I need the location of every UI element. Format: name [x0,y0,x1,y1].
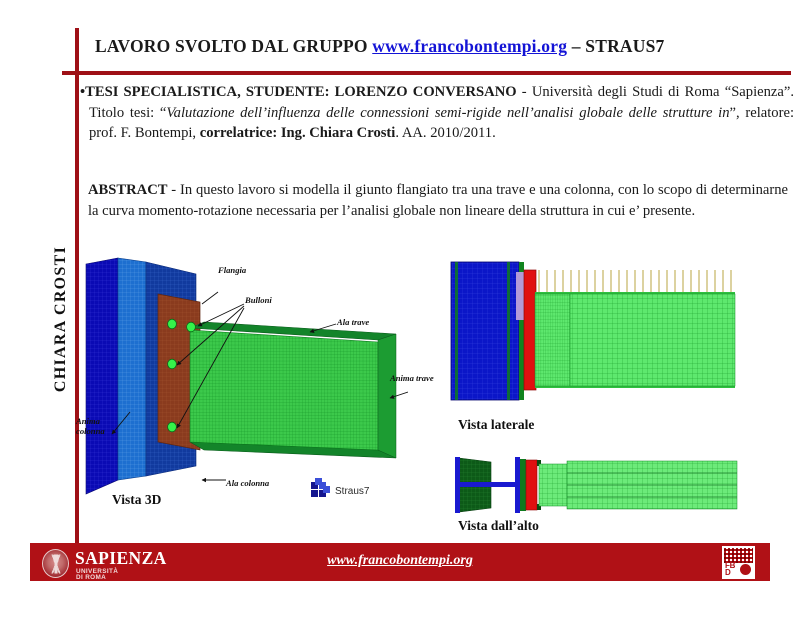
thesis-paragraph: •TESI SPECIALISTICA, STUDENTE: LORENZO C… [80,82,794,144]
abstract-label: ABSTRACT [88,182,167,198]
abstract-paragraph: ABSTRACT - In questo lavoro si modella i… [88,180,788,221]
header-horizontal-rule [62,71,791,75]
title-link-francobontempi[interactable]: www.francobontempi.org [372,36,567,56]
sapienza-subtitle: UNIVERSITÀ DI ROMA [76,569,118,582]
straus7-grid-icon [311,482,330,501]
fbd-logo-inner: FBD [724,548,753,577]
caption-vista-3d: Vista 3D [112,492,161,508]
footer-link-francobontempi[interactable]: www.francobontempi.org [30,553,770,569]
fbd-logo: FBD [722,546,755,579]
title-text-after: – STRAUS7 [567,36,664,56]
page-title: LAVORO SVOLTO DAL GRUPPO www.francobonte… [95,36,785,57]
straus7-label: Straus7 [335,486,369,497]
label-bulloni: Bulloni [245,296,272,306]
thesis-segment-3: . AA. 2010/2011. [395,125,495,141]
caption-vista-laterale: Vista laterale [458,417,534,433]
label-anima-trave: Anima trave [390,374,434,384]
fbd-lower-block: FBD [724,563,753,577]
label-ala-trave: Ala trave [337,318,369,328]
label-anima-colonna: Anima colonna [76,417,105,436]
label-flangia: Flangia [218,266,246,276]
fbd-dot-icon [740,564,751,575]
abstract-text: - In questo lavoro si modella il giunto … [88,182,788,219]
straus7-logo: Straus7 [311,482,385,502]
thesis-cosupervisor: correlatrice: Ing. Chiara Crosti [200,125,396,141]
thesis-title-italic: Valutazione dell’influenza delle conness… [166,105,729,121]
figure-top-view [447,448,792,528]
figure-side-view [447,258,792,423]
side-label-author: CHIARA CROSTI [52,219,70,419]
caption-vista-dall-alto: Vista dall’alto [458,518,539,534]
label-ala-colonna: Ala colonna [226,479,269,489]
thesis-heading: TESI SPECIALISTICA, STUDENTE: LORENZO CO… [85,84,516,100]
fbd-letters: FBD [725,562,735,576]
title-text-before: LAVORO SVOLTO DAL GRUPPO [95,36,372,56]
left-vertical-rule [75,28,79,546]
figure-3d-model [78,252,408,507]
